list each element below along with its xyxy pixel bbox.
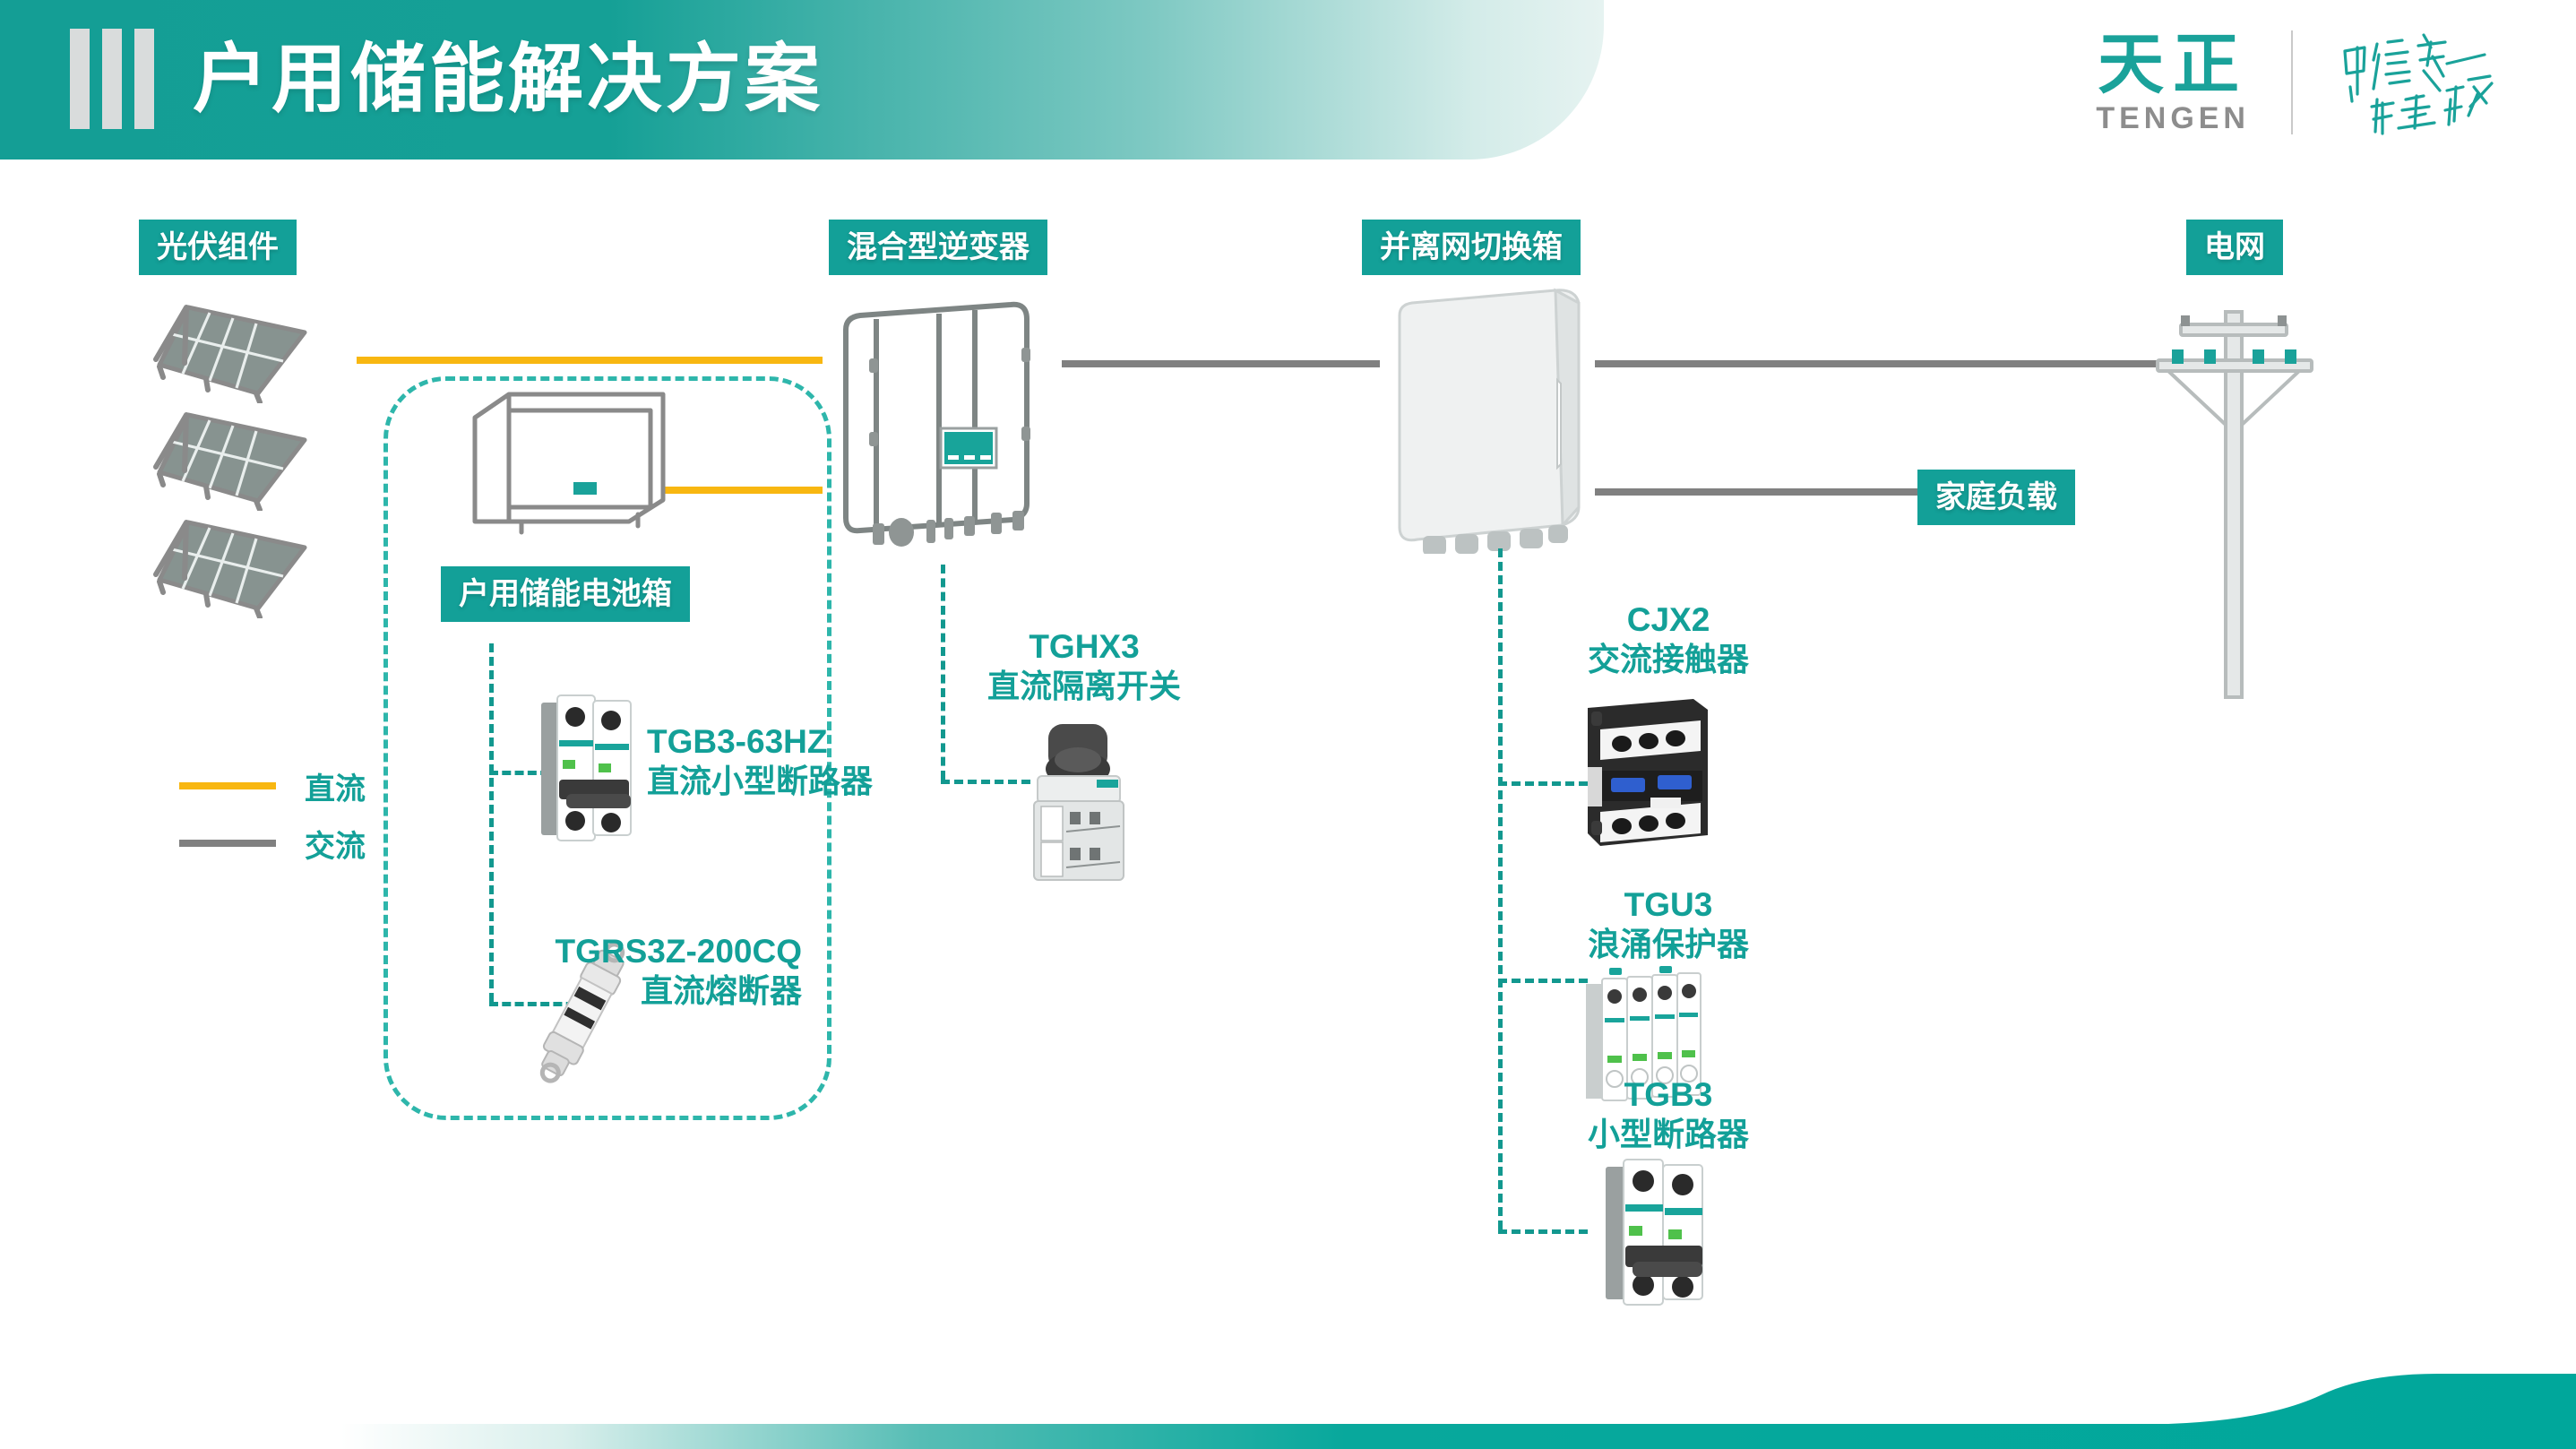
solar-panel-icon-3 bbox=[151, 515, 312, 618]
solar-panel-icon-2 bbox=[151, 408, 312, 511]
page-header: 户用储能解决方案 bbox=[0, 0, 1604, 160]
stage-label-inverter: 混合型逆变器 bbox=[829, 220, 1047, 275]
ac-wire-inverter-switchbox bbox=[1062, 360, 1380, 367]
dc-isolator-icon bbox=[1011, 717, 1145, 887]
stage-label-home-load: 家庭负载 bbox=[1917, 470, 2075, 525]
component-caption-tgb3-63hz: TGB3-63HZ 直流小型断路器 bbox=[647, 722, 873, 801]
component-model: TGHX3 bbox=[914, 627, 1254, 667]
brand-logo: 天正 TENGEN bbox=[2096, 20, 2513, 145]
logo-divider bbox=[2291, 30, 2293, 134]
utility-pole-icon bbox=[2149, 296, 2319, 699]
slogan-handwriting-icon bbox=[2334, 24, 2513, 141]
stage-label-switchbox: 并离网切换箱 bbox=[1362, 220, 1581, 275]
legend: 直流 交流 bbox=[179, 757, 366, 872]
component-caption-tghx3: TGHX3 直流隔离开关 bbox=[914, 627, 1254, 706]
page-footer bbox=[0, 1374, 2576, 1449]
switchbox-branch-to-spd bbox=[1498, 979, 1588, 983]
component-desc: 直流隔离开关 bbox=[914, 667, 1254, 706]
component-caption-cjx2: CJX2 交流接触器 bbox=[1498, 600, 1839, 679]
ac-wire-switchbox-grid bbox=[1595, 360, 2186, 367]
component-desc: 直流小型断路器 bbox=[647, 762, 873, 801]
legend-item-dc: 直流 bbox=[179, 757, 366, 815]
legend-label-dc: 直流 bbox=[305, 764, 366, 808]
component-desc: 小型断路器 bbox=[1498, 1115, 1839, 1154]
component-caption-tgb3: TGB3 小型断路器 bbox=[1498, 1075, 1839, 1154]
page-title: 户用储能解决方案 bbox=[193, 27, 823, 131]
legend-item-ac: 交流 bbox=[179, 815, 366, 872]
battery-cabinet-icon bbox=[466, 387, 672, 539]
stage-label-pv: 光伏组件 bbox=[139, 220, 297, 275]
component-model: TGRS3Z-200CQ bbox=[372, 932, 802, 971]
component-model: TGB3-63HZ bbox=[647, 722, 873, 762]
component-caption-tgu3: TGU3 浪涌保护器 bbox=[1498, 885, 1839, 964]
switchbox-branch-to-mcb bbox=[1498, 1229, 1588, 1234]
dc-mcb-icon bbox=[530, 690, 638, 847]
component-model: TGB3 bbox=[1498, 1075, 1839, 1115]
logo-mark: 天正 TENGEN bbox=[2096, 29, 2250, 136]
ac-contactor-icon bbox=[1575, 692, 1719, 853]
ac-wire-switchbox-home-load bbox=[1595, 488, 1917, 496]
hybrid-inverter-icon bbox=[833, 296, 1057, 547]
component-desc: 交流接触器 bbox=[1498, 640, 1839, 679]
dc-wire-pv-inverter bbox=[357, 357, 823, 364]
switchbox-icon bbox=[1380, 285, 1604, 554]
component-caption-tgrs3z-200cq: TGRS3Z-200CQ 直流熔断器 bbox=[372, 932, 802, 1011]
component-desc: 直流熔断器 bbox=[372, 971, 802, 1011]
switchbox-branch-to-contactor bbox=[1498, 781, 1588, 786]
logo-name-en: TENGEN bbox=[2096, 100, 2250, 136]
legend-swatch-dc bbox=[179, 782, 276, 789]
solar-panel-icon-1 bbox=[151, 300, 312, 403]
stage-label-grid: 电网 bbox=[2186, 220, 2283, 275]
component-model: TGU3 bbox=[1498, 885, 1839, 925]
component-desc: 浪涌保护器 bbox=[1498, 925, 1839, 964]
component-model: CJX2 bbox=[1498, 600, 1839, 640]
mcb-icon bbox=[1595, 1154, 1711, 1311]
legend-swatch-ac bbox=[179, 840, 276, 847]
logo-name-cn: 天正 bbox=[2098, 29, 2248, 100]
legend-label-ac: 交流 bbox=[305, 822, 366, 866]
three-bars-icon bbox=[70, 29, 154, 129]
